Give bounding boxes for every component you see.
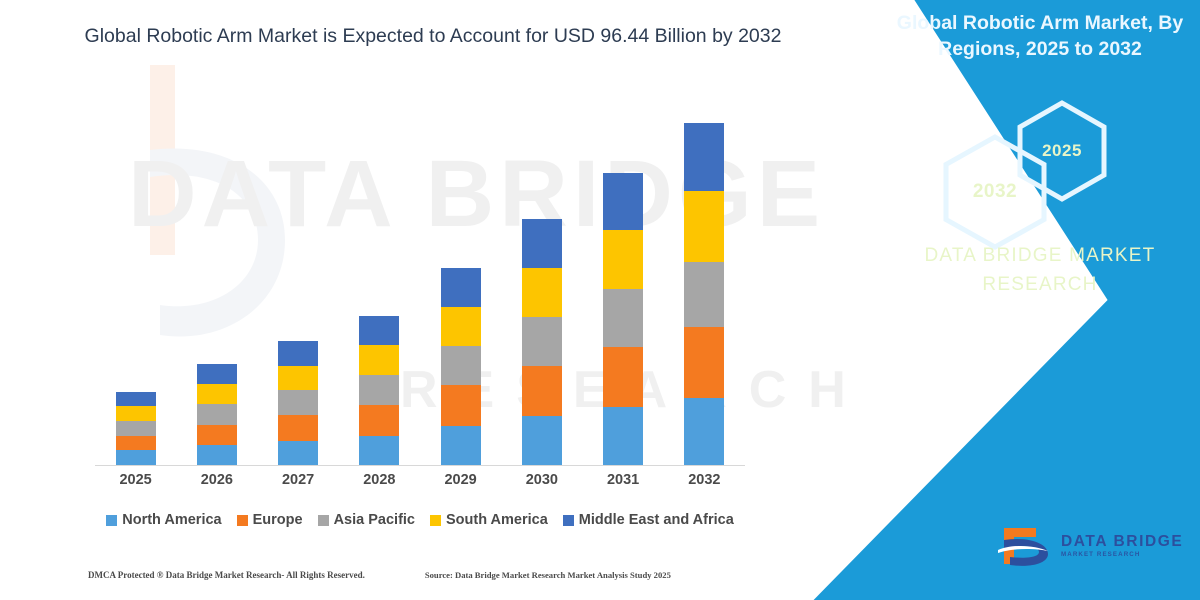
bar-column (583, 110, 664, 465)
x-axis-tick-label: 2026 (176, 472, 257, 488)
stacked-bar (116, 392, 156, 465)
brand-name: DATA BRIDGE MARKET RESEARCH (890, 242, 1190, 299)
bar-segment (522, 366, 562, 416)
stacked-bar (197, 364, 237, 465)
brand-panel: Global Robotic Arm Market, By Regions, 2… (780, 0, 1200, 600)
bar-segment (278, 341, 318, 365)
company-logo-text: DATA BRIDGE MARKET RESEARCH (1061, 534, 1183, 559)
chart-plot-area (95, 110, 745, 466)
hexagon-label-2032: 2032 (973, 181, 1017, 203)
bar-segment (116, 392, 156, 407)
bar-column (501, 110, 582, 465)
stacked-bar (522, 219, 562, 465)
bar-segment (522, 268, 562, 317)
bar-segment (278, 366, 318, 391)
bar-segment (197, 425, 237, 446)
bar-column (258, 110, 339, 465)
bar-column (176, 110, 257, 465)
bar-segment (684, 123, 724, 191)
legend-item[interactable]: Europe (237, 512, 303, 528)
footer-source-text: Source: Data Bridge Market Research Mark… (425, 570, 671, 580)
legend-label: North America (122, 512, 221, 528)
bar-segment (116, 406, 156, 421)
company-logo-line2: MARKET RESEARCH (1061, 552, 1183, 558)
chart-title: Global Robotic Arm Market is Expected to… (78, 22, 788, 51)
panel-title: Global Robotic Arm Market, By Regions, 2… (890, 10, 1190, 63)
stacked-bar (603, 173, 643, 465)
infographic-page: DATA BRIDGE RESEARCH Global Robotic Arm … (0, 0, 1200, 600)
brand-name-line1: DATA BRIDGE MARKET (890, 242, 1190, 271)
bar-segment (441, 385, 481, 425)
bar-segment (359, 405, 399, 436)
bar-segment (116, 421, 156, 436)
data-bridge-b-mark-icon (996, 524, 1054, 568)
bar-segment (278, 441, 318, 465)
bar-segment (197, 364, 237, 384)
x-axis-tick-label: 2025 (95, 472, 176, 488)
bar-segment (522, 416, 562, 465)
bar-segment (359, 345, 399, 375)
legend-label: Middle East and Africa (579, 512, 734, 528)
x-axis-tick-label: 2032 (664, 472, 745, 488)
legend-label: South America (446, 512, 548, 528)
bar-segment (684, 191, 724, 262)
chart-legend: North AmericaEuropeAsia PacificSouth Ame… (60, 512, 780, 528)
bar-column (95, 110, 176, 465)
bar-segment (359, 436, 399, 465)
bar-segment (684, 262, 724, 328)
hexagon-label-2025: 2025 (1042, 141, 1082, 161)
bar-segment (603, 289, 643, 347)
bar-segment (197, 445, 237, 465)
bar-segment (441, 268, 481, 307)
stacked-bar (278, 341, 318, 465)
x-axis-tick-label: 2030 (501, 472, 582, 488)
bar-segment (197, 384, 237, 404)
bar-column (339, 110, 420, 465)
bar-column (664, 110, 745, 465)
bar-segment (359, 316, 399, 345)
legend-item[interactable]: South America (430, 512, 548, 528)
legend-label: Europe (253, 512, 303, 528)
stacked-bar (441, 268, 481, 465)
company-logo: DATA BRIDGE MARKET RESEARCH (996, 524, 1183, 568)
x-axis-tick-label: 2029 (420, 472, 501, 488)
legend-label: Asia Pacific (334, 512, 415, 528)
bar-segment (278, 390, 318, 415)
bar-segment (197, 404, 237, 424)
legend-item[interactable]: North America (106, 512, 221, 528)
bar-segment (441, 307, 481, 346)
bar-segment (359, 375, 399, 405)
bar-segment (522, 219, 562, 267)
x-axis-labels: 20252026202720282029203020312032 (95, 472, 745, 488)
bar-segment (603, 230, 643, 289)
x-axis-tick-label: 2031 (583, 472, 664, 488)
stacked-bar (684, 123, 724, 465)
legend-swatch-icon (430, 515, 441, 526)
bar-segment (603, 347, 643, 407)
bar-segment (116, 436, 156, 451)
bar-segment (684, 398, 724, 465)
legend-item[interactable]: Asia Pacific (318, 512, 415, 528)
bar-segment (684, 327, 724, 397)
stacked-bar (359, 316, 399, 465)
legend-swatch-icon (106, 515, 117, 526)
bar-segment (278, 415, 318, 440)
bar-segment (603, 407, 643, 465)
x-axis-tick-label: 2027 (258, 472, 339, 488)
x-axis-line (95, 465, 745, 466)
footer-dmca-text: DMCA Protected ® Data Bridge Market Rese… (88, 570, 365, 580)
stacked-bar-group (95, 110, 745, 465)
bar-segment (116, 450, 156, 465)
bar-segment (603, 173, 643, 230)
hexagon-badge-2025: 2025 (1015, 99, 1109, 203)
legend-swatch-icon (563, 515, 574, 526)
legend-item[interactable]: Middle East and Africa (563, 512, 734, 528)
company-logo-line1: DATA BRIDGE (1061, 534, 1183, 550)
bar-segment (441, 426, 481, 465)
legend-swatch-icon (237, 515, 248, 526)
bar-segment (441, 346, 481, 385)
bar-column (420, 110, 501, 465)
brand-name-line2: RESEARCH (890, 271, 1190, 300)
x-axis-tick-label: 2028 (339, 472, 420, 488)
footer: DMCA Protected ® Data Bridge Market Rese… (88, 570, 788, 580)
bar-segment (522, 317, 562, 366)
legend-swatch-icon (318, 515, 329, 526)
